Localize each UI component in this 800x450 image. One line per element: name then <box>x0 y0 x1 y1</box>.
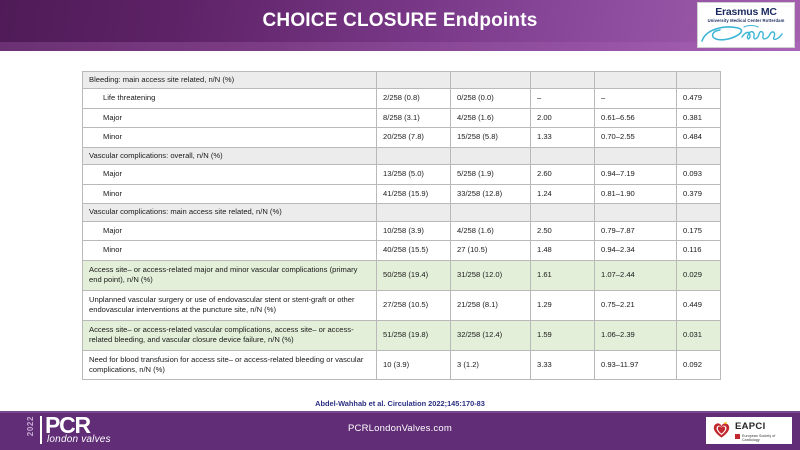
row-value-3: 2.60 <box>531 165 595 184</box>
row-value-2: 0/258 (0.0) <box>451 89 531 108</box>
pcr-london-valves-logo: 2022 PCR london valves <box>26 415 156 447</box>
row-label: Need for blood transfusion for access si… <box>83 350 377 380</box>
erasmus-mc-logo: Erasmus MC University Medical Center Rot… <box>697 2 795 48</box>
table-row: Access site– or access-related vascular … <box>83 320 721 350</box>
table-row: Minor 41/258 (15.9) 33/258 (12.8) 1.24 0… <box>83 184 721 203</box>
table-row: Need for blood transfusion for access si… <box>83 350 721 380</box>
row-value-4: 0.94–2.34 <box>595 241 677 260</box>
eapci-logo-subtitle: European Society of Cardiology <box>742 434 792 442</box>
row-value-2 <box>451 204 531 221</box>
row-label: Access site– or access-related major and… <box>83 260 377 290</box>
table-row: Vascular complications: main access site… <box>83 204 721 221</box>
row-value-1: 2/258 (0.8) <box>377 89 451 108</box>
row-value-4 <box>595 72 677 89</box>
row-value-2: 4/258 (1.6) <box>451 108 531 127</box>
row-label: Major <box>83 165 377 184</box>
table-row: Major 13/258 (5.0) 5/258 (1.9) 2.60 0.94… <box>83 165 721 184</box>
row-label: Unplanned vascular surgery or use of end… <box>83 290 377 320</box>
row-value-5: 0.029 <box>677 260 721 290</box>
row-value-2: 3 (1.2) <box>451 350 531 380</box>
footer-top-rule <box>0 411 800 413</box>
table-row: Major 10/258 (3.9) 4/258 (1.6) 2.50 0.79… <box>83 221 721 240</box>
esc-mark-icon <box>735 434 740 439</box>
row-label: Access site– or access-related vascular … <box>83 320 377 350</box>
row-value-4: – <box>595 89 677 108</box>
row-value-1: 8/258 (3.1) <box>377 108 451 127</box>
row-value-5: 0.379 <box>677 184 721 203</box>
table-row: Unplanned vascular surgery or use of end… <box>83 290 721 320</box>
row-value-5 <box>677 204 721 221</box>
row-value-1: 40/258 (15.5) <box>377 241 451 260</box>
row-value-1: 20/258 (7.8) <box>377 128 451 147</box>
table-row: Bleeding: main access site related, n/N … <box>83 72 721 89</box>
row-value-1: 10 (3.9) <box>377 350 451 380</box>
row-value-3 <box>531 204 595 221</box>
row-label: Minor <box>83 128 377 147</box>
erasmus-logo-name: Erasmus MC <box>698 6 794 18</box>
row-value-3: 1.48 <box>531 241 595 260</box>
row-value-3: 3.33 <box>531 350 595 380</box>
row-value-3: 1.59 <box>531 320 595 350</box>
citation-text: Abdel-Wahhab et al. Circulation 2022;145… <box>0 399 800 408</box>
row-value-5: 0.484 <box>677 128 721 147</box>
row-label: Minor <box>83 184 377 203</box>
pcr-logo-subtitle: london valves <box>47 434 111 445</box>
table-body: Bleeding: main access site related, n/N … <box>83 72 721 380</box>
slide-header-underband <box>0 42 800 51</box>
row-value-1: 13/258 (5.0) <box>377 165 451 184</box>
table-row: Minor 40/258 (15.5) 27 (10.5) 1.48 0.94–… <box>83 241 721 260</box>
row-value-5: 0.031 <box>677 320 721 350</box>
row-label: Major <box>83 221 377 240</box>
row-value-1: 10/258 (3.9) <box>377 221 451 240</box>
table-row: Minor 20/258 (7.8) 15/258 (5.8) 1.33 0.7… <box>83 128 721 147</box>
table-row: Life threatening 2/258 (0.8) 0/258 (0.0)… <box>83 89 721 108</box>
row-value-3: 2.00 <box>531 108 595 127</box>
row-label: Bleeding: main access site related, n/N … <box>83 72 377 89</box>
row-value-2 <box>451 147 531 164</box>
row-value-1: 50/258 (19.4) <box>377 260 451 290</box>
row-label: Vascular complications: overall, n/N (%) <box>83 147 377 164</box>
row-value-2: 21/258 (8.1) <box>451 290 531 320</box>
row-value-4: 0.93–11.97 <box>595 350 677 380</box>
row-value-3: 1.29 <box>531 290 595 320</box>
row-value-5 <box>677 147 721 164</box>
row-value-5: 0.381 <box>677 108 721 127</box>
row-value-3: 1.33 <box>531 128 595 147</box>
row-value-2: 27 (10.5) <box>451 241 531 260</box>
row-value-3: 1.61 <box>531 260 595 290</box>
page-title: CHOICE CLOSURE Endpoints <box>0 10 800 32</box>
row-value-4 <box>595 147 677 164</box>
row-value-5: 0.092 <box>677 350 721 380</box>
row-value-4: 0.79–7.87 <box>595 221 677 240</box>
row-value-5: 0.479 <box>677 89 721 108</box>
row-value-2: 15/258 (5.8) <box>451 128 531 147</box>
row-value-2: 32/258 (12.4) <box>451 320 531 350</box>
row-value-4: 0.81–1.90 <box>595 184 677 203</box>
row-value-4: 0.75–2.21 <box>595 290 677 320</box>
row-value-3: – <box>531 89 595 108</box>
row-value-1: 41/258 (15.9) <box>377 184 451 203</box>
row-value-4: 0.94–7.19 <box>595 165 677 184</box>
row-value-4: 0.70–2.55 <box>595 128 677 147</box>
row-label: Minor <box>83 241 377 260</box>
table-row: Access site– or access-related major and… <box>83 260 721 290</box>
row-value-3: 2.50 <box>531 221 595 240</box>
row-value-3: 1.24 <box>531 184 595 203</box>
row-value-5: 0.116 <box>677 241 721 260</box>
row-value-1 <box>377 147 451 164</box>
heart-icon <box>712 421 731 439</box>
erasmus-signature-icon <box>698 21 794 47</box>
row-label: Life threatening <box>83 89 377 108</box>
row-value-2: 33/258 (12.8) <box>451 184 531 203</box>
row-label: Vascular complications: main access site… <box>83 204 377 221</box>
row-value-4: 0.61–6.56 <box>595 108 677 127</box>
row-value-1 <box>377 72 451 89</box>
eapci-logo-name: EAPCI <box>735 421 766 432</box>
eapci-logo: EAPCI European Society of Cardiology <box>706 417 792 444</box>
row-value-5: 0.449 <box>677 290 721 320</box>
pcr-logo-year: 2022 <box>26 416 38 436</box>
row-value-3 <box>531 72 595 89</box>
row-value-2: 31/258 (12.0) <box>451 260 531 290</box>
row-value-4: 1.06–2.39 <box>595 320 677 350</box>
row-value-1 <box>377 204 451 221</box>
row-value-4: 1.07–2.44 <box>595 260 677 290</box>
endpoints-table: Bleeding: main access site related, n/N … <box>82 71 721 380</box>
row-value-2: 5/258 (1.9) <box>451 165 531 184</box>
row-label: Major <box>83 108 377 127</box>
table-row: Vascular complications: overall, n/N (%) <box>83 147 721 164</box>
table-row: Major 8/258 (3.1) 4/258 (1.6) 2.00 0.61–… <box>83 108 721 127</box>
pcr-logo-rule <box>40 416 42 444</box>
row-value-5 <box>677 72 721 89</box>
row-value-4 <box>595 204 677 221</box>
row-value-1: 27/258 (10.5) <box>377 290 451 320</box>
row-value-2 <box>451 72 531 89</box>
row-value-5: 0.093 <box>677 165 721 184</box>
row-value-2: 4/258 (1.6) <box>451 221 531 240</box>
row-value-5: 0.175 <box>677 221 721 240</box>
row-value-3 <box>531 147 595 164</box>
row-value-1: 51/258 (19.8) <box>377 320 451 350</box>
